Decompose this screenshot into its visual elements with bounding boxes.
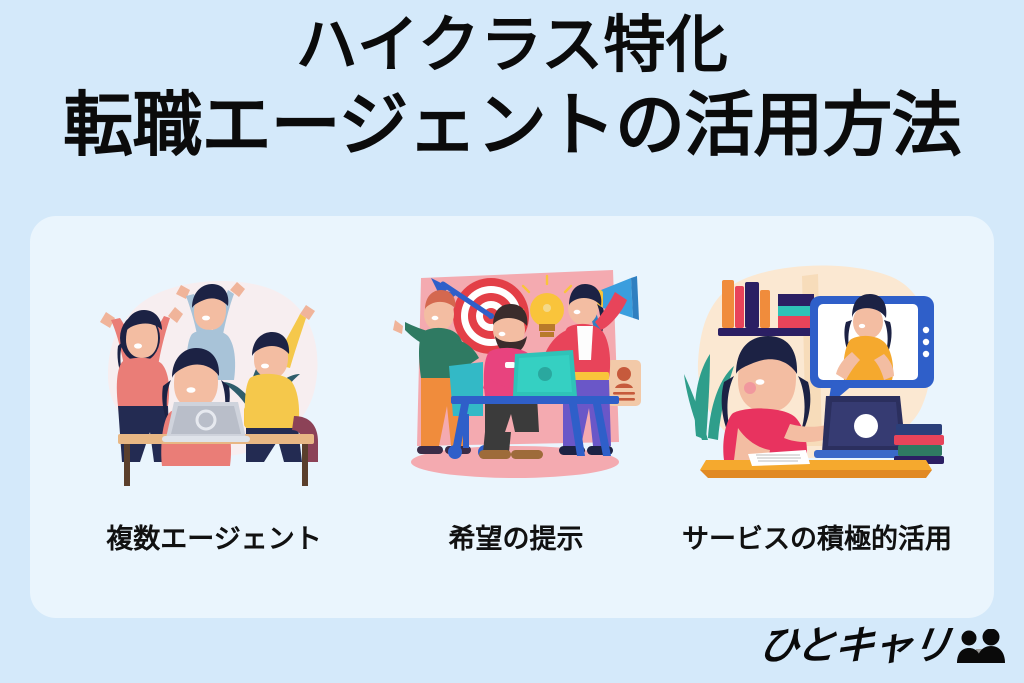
page-title: ハイクラス特化 転職エージェントの活用方法 <box>0 14 1024 160</box>
content-card: 複数エージェント 希望の提示 サービスの積極的活用 <box>30 216 994 618</box>
logo-wordmark: ひとキャリ <box>756 626 952 666</box>
poster-canvas: ハイクラス特化 転職エージェントの活用方法 <box>0 0 1024 683</box>
stack-of-books <box>894 424 944 464</box>
caption-panel-1: 複数エージェント <box>78 517 350 556</box>
brand-logo: ひとキャリ <box>759 623 1006 669</box>
panel-team-celebration <box>78 256 350 486</box>
team-celebrating-illustration <box>78 256 350 486</box>
caption-panel-2: 希望の提示 <box>387 517 645 556</box>
caption-panel-3: サービスの積極的活用 <box>682 517 946 556</box>
illustration-row <box>30 256 994 486</box>
title-line-1: ハイクラス特化 <box>0 14 1024 76</box>
panel-goal-presentation <box>387 256 645 486</box>
caption-row: 複数エージェント 希望の提示 サービスの積極的活用 <box>30 516 994 556</box>
goal-presentation-illustration <box>387 256 645 486</box>
title-line-2: 転職エージェントの活用方法 <box>0 90 1024 160</box>
video-call-illustration <box>682 256 946 486</box>
two-people-icon <box>954 629 1006 663</box>
panel-video-consultation <box>682 256 946 486</box>
